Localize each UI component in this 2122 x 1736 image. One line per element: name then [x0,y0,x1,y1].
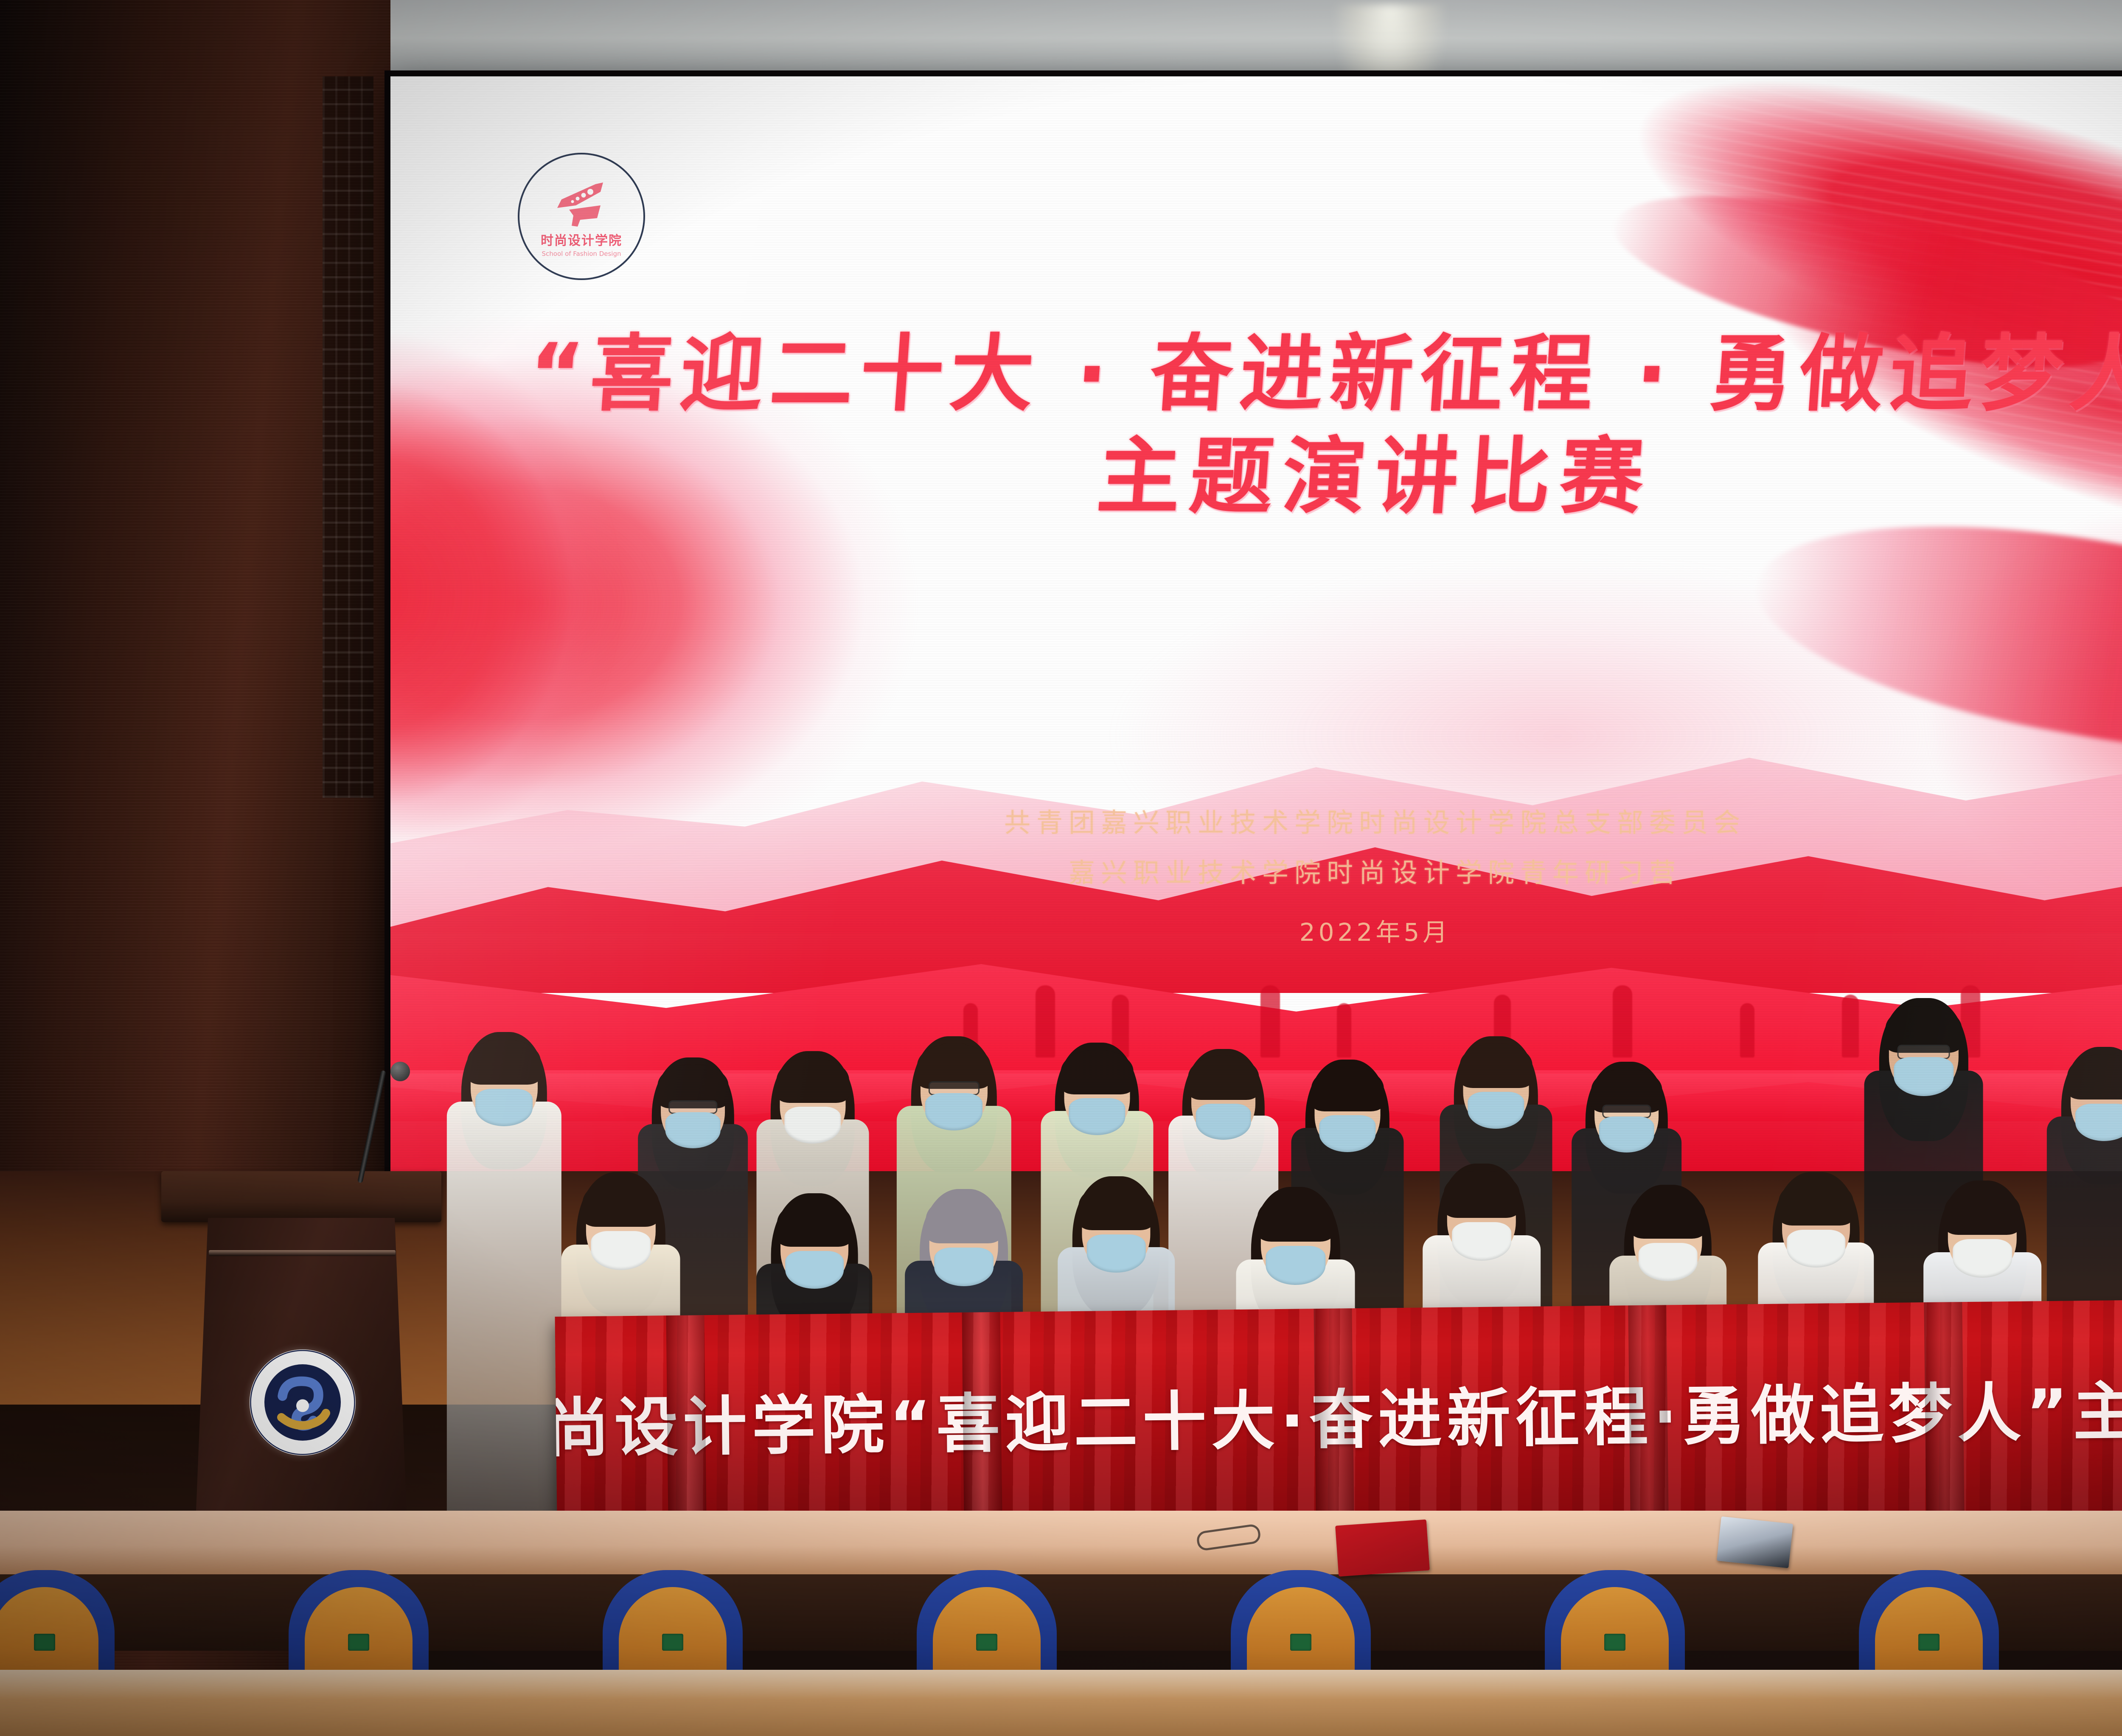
face-mask-icon [925,1093,983,1131]
face-mask-icon [934,1248,994,1286]
face-mask-icon [1468,1092,1524,1129]
face-mask-icon [665,1112,721,1148]
face-mask-icon [475,1089,533,1127]
college-mark-icon [550,179,613,227]
hair-top [1444,1171,1520,1217]
seat-number-plate [662,1634,683,1651]
face-mask-icon [1319,1115,1375,1152]
banner-text: 时尚设计学院“喜迎二十大·奋进新征程·勇做追梦人”主题演讲比赛 [555,1357,2122,1470]
face-mask-icon [1639,1243,1698,1281]
organizer-line-2: 嘉兴职业技术学院时尚设计学院青年研习营 [390,848,2122,898]
hair-top [582,1180,659,1227]
fashion-design-college-logo-icon: 时尚设计学院 School of Fashion Design [518,153,645,280]
face-mask-icon [1452,1222,1511,1261]
led-display-screen: 时尚设计学院 School of Fashion Design “喜迎二十大 ·… [390,76,2122,1171]
podium-groove [209,1250,396,1256]
hair-top [1061,1050,1134,1094]
desk-certificate[interactable] [1335,1520,1430,1577]
face-mask-icon [1069,1098,1125,1135]
front-desk-sheen [0,1670,2122,1700]
hair-top [1779,1179,1853,1226]
face-mask-icon [1599,1116,1654,1153]
seat-number-plate [976,1634,997,1651]
face-mask-icon [1787,1230,1845,1268]
seat-number-plate [34,1634,55,1651]
silhouette-figure [1337,1003,1351,1057]
hair-top [777,1200,852,1247]
event-banner: 时尚设计学院“喜迎二十大·奋进新征程·勇做追梦人”主题演讲比赛 [555,1297,2122,1529]
seat-number-plate [1918,1634,1940,1651]
hair-top [777,1058,849,1103]
hair-top [1311,1067,1384,1111]
acoustic-panel-left [323,76,373,798]
hair-top [1188,1056,1259,1099]
hair-top [1257,1195,1334,1242]
speaker-podium [170,1171,433,1536]
hair-top [1945,1188,2021,1234]
silhouette-figure [1842,995,1859,1057]
face-mask-icon [785,1251,844,1289]
hair-top [467,1039,541,1085]
face-mask-icon [591,1231,651,1270]
silhouette-figure [1740,1003,1754,1057]
face-mask-icon [1196,1104,1251,1140]
event-date: 2022年5月 [390,912,2122,948]
seat-number-plate [348,1634,369,1651]
seat-number-plate [1604,1634,1625,1651]
jiaxing-vocational-technical-college-logo-icon [250,1349,356,1456]
screen-title-block: “喜迎二十大 · 奋进新征程 · 勇做追梦人” 主题演讲比赛 [390,331,2122,521]
podium-top-surface [161,1171,441,1222]
torso [446,1102,561,1519]
organizer-line-1: 共青团嘉兴职业技术学院时尚设计学院总支部委员会 [390,798,2122,848]
face-mask-icon [1087,1234,1146,1273]
college-badge-cn-label: 时尚设计学院 [541,230,622,249]
face-mask-icon [784,1107,841,1144]
front-desk-top [0,1511,2122,1574]
hair-top [926,1196,1002,1243]
silhouette-figure [1260,985,1280,1057]
college-badge-en-label: School of Fashion Design [542,250,621,258]
auditorium-photo: 时尚设计学院 School of Fashion Design “喜迎二十大 ·… [0,0,2122,1736]
screen-title-line-2: 主题演讲比赛 [390,434,2122,521]
seat-number-plate [1290,1634,1311,1651]
screen-title-line-1: “喜迎二十大 · 奋进新征程 · 勇做追梦人” [390,331,2122,418]
attendee [450,1031,558,1519]
face-mask-icon [1266,1246,1325,1285]
desk-notebook[interactable] [1717,1516,1793,1568]
hair-top [1460,1043,1533,1088]
face-mask-icon [1894,1057,1954,1096]
hair-top [1078,1184,1154,1230]
silhouette-figure [1613,985,1632,1057]
organizer-block: 共青团嘉兴职业技术学院时尚设计学院总支部委员会 嘉兴职业技术学院时尚设计学院青年… [390,798,2122,948]
face-mask-icon [1953,1239,2012,1278]
microphone-head-icon [390,1062,410,1081]
hair-top [1630,1192,1705,1239]
